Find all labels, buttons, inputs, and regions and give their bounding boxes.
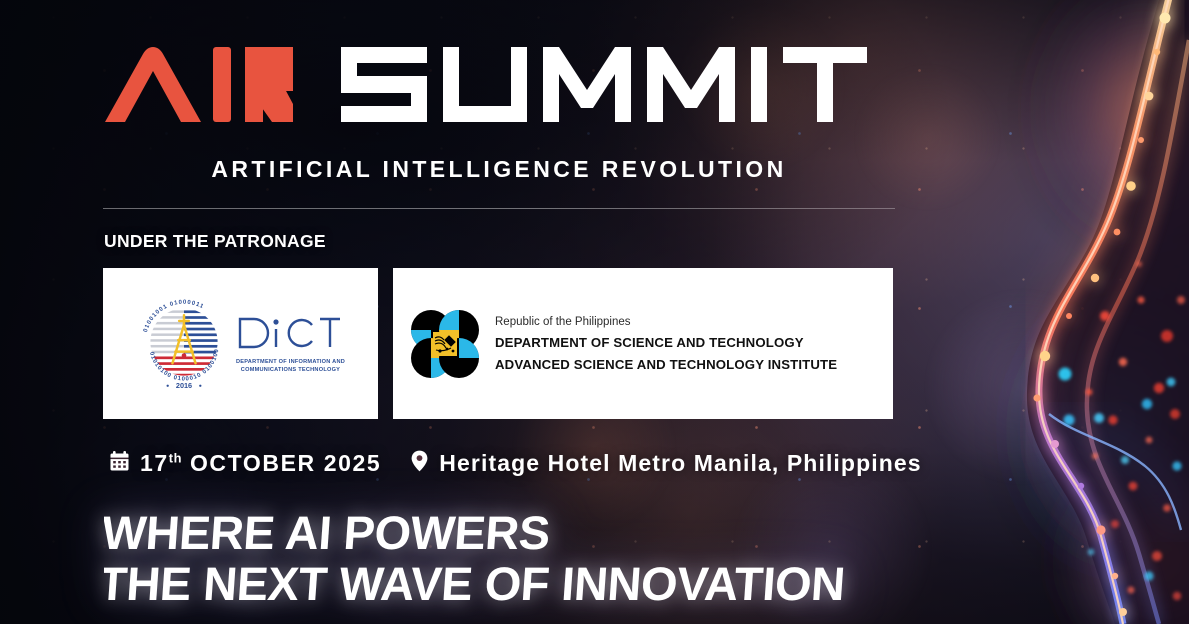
event-date: 17th OCTOBER 2025: [140, 450, 381, 477]
event-venue-item: Heritage Hotel Metro Manila, Philippines: [411, 450, 921, 477]
dost-asti-logo: [409, 306, 481, 382]
event-date-item: 17th OCTOBER 2025: [110, 450, 381, 477]
patronage-logo-card-dost-asti: Republic of the Philippines DEPARTMENT O…: [393, 268, 893, 419]
tagline-line-1: WHERE AI POWERS: [104, 506, 552, 559]
event-banner: ARTIFICIAL INTELLIGENCE REVOLUTION UNDER…: [0, 0, 1189, 624]
event-venue: Heritage Hotel Metro Manila, Philippines: [439, 450, 921, 477]
logo-subtitle-text: ARTIFICIAL INTELLIGENCE REVOLUTION: [211, 156, 786, 182]
dost-line-department: DEPARTMENT OF SCIENCE AND TECHNOLOGY: [495, 332, 837, 353]
logo-word-air: [103, 46, 293, 128]
dost-asti-text-block: Republic of the Philippines DEPARTMENT O…: [495, 312, 837, 375]
calendar-icon: [110, 451, 129, 476]
event-tagline: WHERE AI POWERS THE NEXT WAVE OF INNOVAT…: [104, 505, 984, 611]
event-meta-row: 17th OCTOBER 2025 Heritage Hotel Metro M…: [110, 450, 922, 477]
dict-wordmark: [236, 313, 344, 358]
dost-line-institute: ADVANCED SCIENCE AND TECHNOLOGY INSTITUT…: [495, 354, 837, 375]
event-date-ordinal: th: [169, 450, 182, 465]
map-pin-icon: [411, 450, 428, 477]
dict-subtitle-line2: COMMUNICATIONS TECHNOLOGY: [241, 366, 340, 374]
tagline-line-2: THE NEXT WAVE OF INNOVATION: [104, 557, 847, 610]
logo-word-summit: [339, 46, 869, 128]
dict-wordmark-block: DEPARTMENT OF INFORMATION AND COMMUNICAT…: [236, 313, 345, 375]
dost-line-republic: Republic of the Philippines: [495, 312, 837, 333]
event-date-day: 17: [140, 450, 169, 476]
patronage-label: UNDER THE PATRONAGE: [104, 231, 326, 252]
dict-seal-year: 2016: [176, 381, 192, 390]
patronage-logo-card-dict: 01001001 01000011 01010100 0100010 01001…: [103, 268, 378, 419]
banner-content: ARTIFICIAL INTELLIGENCE REVOLUTION UNDER…: [0, 0, 1189, 624]
dict-seal-logo: 01001001 01000011 01010100 0100010 01001…: [136, 296, 232, 392]
air-summit-logo: [103, 46, 869, 128]
event-date-rest: OCTOBER 2025: [182, 450, 381, 476]
logo-subtitle: ARTIFICIAL INTELLIGENCE REVOLUTION: [103, 152, 895, 191]
dict-subtitle-line1: DEPARTMENT OF INFORMATION AND: [236, 358, 345, 366]
header-divider: [103, 208, 895, 209]
